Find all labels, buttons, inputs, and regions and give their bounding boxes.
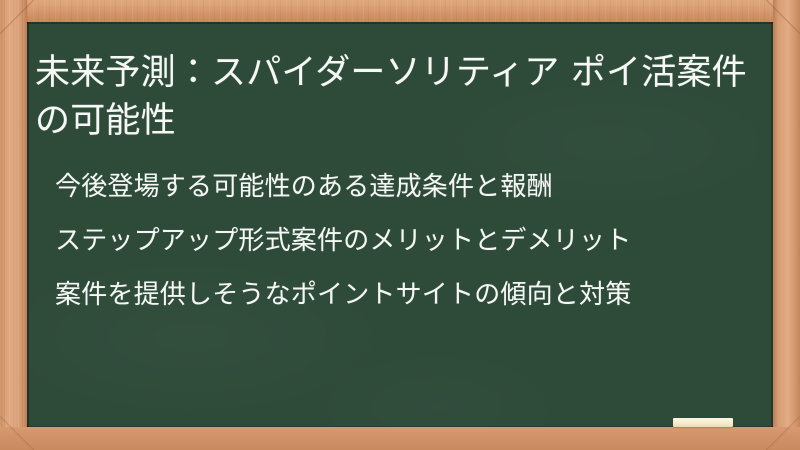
chalkboard-surface: 未来予測：スパイダーソリティア ポイ活案件の可能性 今後登場する可能性のある達成… bbox=[27, 22, 773, 427]
list-item: 案件を提供しそうなポイントサイトの傾向と対策 bbox=[55, 268, 755, 322]
list-item: ステップアップ形式案件のメリットとデメリット bbox=[55, 214, 755, 268]
wood-grain-left bbox=[0, 0, 27, 450]
topic-list: 今後登場する可能性のある達成条件と報酬 ステップアップ形式案件のメリットとデメリ… bbox=[55, 160, 755, 322]
chalkboard-content: 未来予測：スパイダーソリティア ポイ活案件の可能性 今後登場する可能性のある達成… bbox=[27, 22, 773, 427]
wood-grain-top bbox=[0, 0, 800, 22]
frame-rail-left bbox=[0, 0, 27, 450]
frame-rail-right bbox=[773, 0, 800, 450]
frame-rail-top bbox=[0, 0, 800, 22]
list-item: 今後登場する可能性のある達成条件と報酬 bbox=[55, 160, 755, 214]
page-title: 未来予測：スパイダーソリティア ポイ活案件の可能性 bbox=[35, 49, 747, 145]
frame-rail-bottom-ledge bbox=[0, 427, 800, 450]
blackboard-wooden-frame: 未来予測：スパイダーソリティア ポイ活案件の可能性 今後登場する可能性のある達成… bbox=[0, 0, 800, 450]
chalk-stick-icon bbox=[673, 418, 733, 427]
